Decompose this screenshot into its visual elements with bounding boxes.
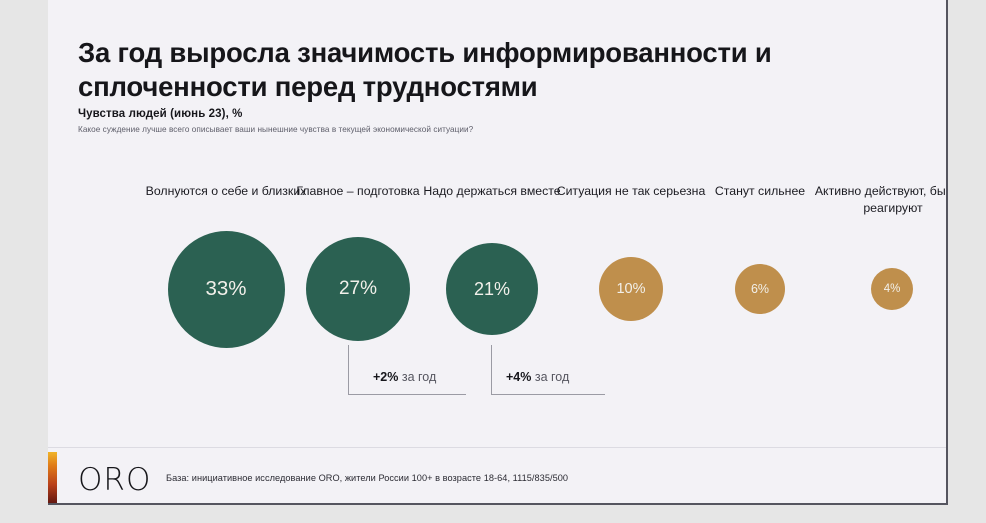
slide: За год выросла значимость информированно… <box>48 0 948 505</box>
bubble-category-label: Главное – подготовка <box>280 183 436 200</box>
bubble-category-label: Активно действуют, быстро реагируют <box>790 183 948 217</box>
footer-divider <box>48 447 948 448</box>
bubble-1[interactable]: 33% <box>168 231 285 348</box>
bubble-2[interactable]: 27% <box>306 237 410 341</box>
delta-period: за год <box>398 370 436 384</box>
bubble-4[interactable]: 10% <box>599 257 663 321</box>
bubble-chart: Волнуются о себе и близких33%Главное – п… <box>48 0 948 505</box>
bubble-3[interactable]: 21% <box>446 243 538 335</box>
delta-value: +4% <box>506 370 531 384</box>
brand-accent-bar <box>48 452 57 505</box>
delta-label: +2% за год <box>373 370 436 384</box>
bubble-6[interactable]: 4% <box>871 268 913 310</box>
delta-label: +4% за год <box>506 370 569 384</box>
delta-value: +2% <box>373 370 398 384</box>
base-text: База: инициативное исследование ORO, жит… <box>166 473 568 483</box>
oro-logo: ORO <box>78 462 151 498</box>
delta-period: за год <box>531 370 569 384</box>
bubble-5[interactable]: 6% <box>735 264 785 314</box>
